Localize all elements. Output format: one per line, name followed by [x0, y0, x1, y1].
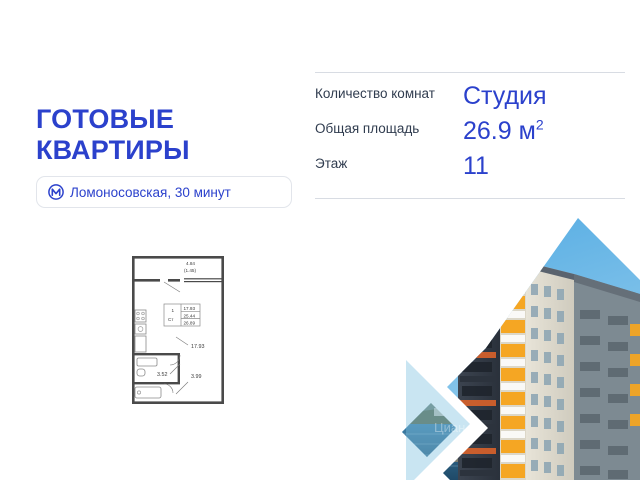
page-title: ГОТОВЫЕ КВАРТИРЫ — [36, 104, 286, 166]
specs-rows: Количество комнат Студия Общая площадь 2… — [315, 73, 625, 198]
spec-row-floor: Этаж 11 — [315, 153, 625, 181]
room-badge-count: 1 — [172, 308, 175, 313]
room-badge-value-1: 17.93 — [184, 306, 196, 311]
page-title-line-2: КВАРТИРЫ — [36, 135, 286, 166]
photo-watermark: Циан — [434, 420, 465, 435]
building-photo-svg: Циан — [398, 212, 640, 480]
room-badge-type: Ст — [168, 317, 174, 322]
spec-value-rooms: Студия — [463, 83, 547, 110]
floorplan-top-dimension-1: 4.84 — [186, 261, 195, 266]
spec-value-area-number: 26.9 — [463, 117, 512, 145]
specs-panel: Количество комнат Студия Общая площадь 2… — [315, 72, 625, 199]
room-badge-value-3: 26.89 — [184, 321, 196, 326]
spec-label-floor: Этаж — [315, 153, 463, 172]
callout-living-room-area: 17.93 — [191, 344, 205, 350]
building-photo[interactable]: Циан — [398, 212, 640, 480]
callout-bathroom-area: 3.52 — [157, 372, 168, 378]
spec-value-floor: 11 — [463, 153, 489, 180]
floorplan-svg: .wall { fill: #4a4a4a; } .thin { fill: n… — [124, 252, 232, 408]
callout-hall-area: 3.99 — [191, 374, 202, 380]
spec-row-rooms: Количество комнат Студия — [315, 83, 625, 111]
metro-badge[interactable]: Ломоносовская, 30 минут — [36, 176, 292, 208]
spec-value-area-unit-sup: 2 — [536, 117, 544, 133]
floorplan-drawing[interactable]: .wall { fill: #4a4a4a; } .thin { fill: n… — [124, 252, 232, 408]
floorplan-top-dimension-2: (1.45) — [184, 268, 196, 273]
left-panel: ГОТОВЫЕ КВАРТИРЫ Ломоносовская, 30 минут… — [0, 0, 310, 480]
spec-row-area: Общая площадь 26.9 м2 — [315, 118, 625, 146]
spec-value-area: 26.9 м2 — [463, 118, 544, 145]
spec-label-area: Общая площадь — [315, 118, 463, 137]
spec-value-area-unit: м — [519, 117, 536, 145]
page-title-line-1: ГОТОВЫЕ — [36, 104, 286, 135]
metro-badge-label: Ломоносовская, 30 минут — [70, 185, 231, 200]
room-badge-value-2: 25.44 — [184, 313, 196, 318]
metro-m-icon — [48, 184, 64, 200]
specs-divider-bottom — [315, 198, 625, 199]
spec-label-rooms: Количество комнат — [315, 83, 463, 102]
floorplan-room-badge: 1 Ст 17.93 25.44 26.89 — [164, 304, 200, 326]
